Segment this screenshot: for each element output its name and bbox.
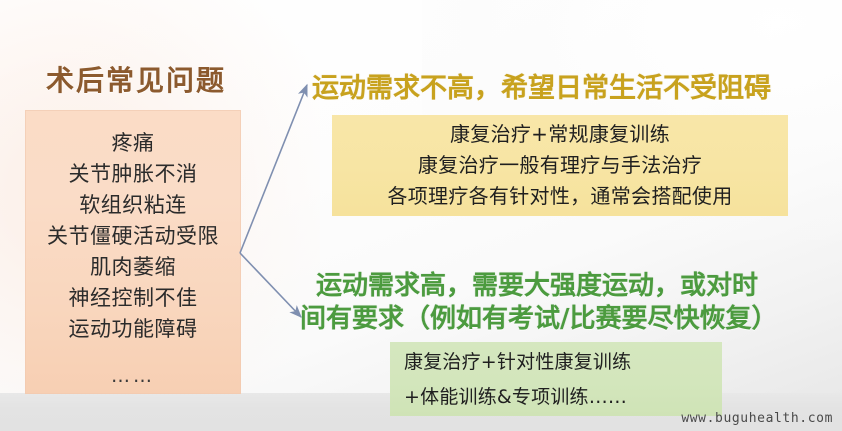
content-line: 康复治疗+常规康复训练 (332, 119, 788, 150)
list-item: 肌肉萎缩 (25, 252, 241, 283)
site-watermark: www.buguhealth.com (681, 411, 833, 426)
problem-list: 疼痛 关节肿胀不消 软组织粘连 关节僵硬活动受限 肌肉萎缩 神经控制不佳 运动功… (25, 128, 241, 392)
arrow-to-low-demand (240, 85, 307, 253)
slide-canvas: 术后常见问题 疼痛 关节肿胀不消 软组织粘连 关节僵硬活动受限 肌肉萎缩 神经控… (0, 0, 842, 431)
page-title: 术后常见问题 (46, 59, 246, 99)
list-item: 关节僵硬活动受限 (25, 221, 241, 252)
heading-line: 运动需求高，需要大强度运动，或对时 (300, 270, 830, 303)
list-item: 运动功能障碍 (25, 314, 241, 345)
list-item: 疼痛 (25, 128, 241, 159)
list-item: 关节肿胀不消 (25, 159, 241, 190)
list-item: 神经控制不佳 (25, 283, 241, 314)
high-demand-content: 康复治疗+针对性康复训练 +体能训练&专项训练…… (390, 345, 722, 415)
content-line: 各项理疗各有针对性，通常会搭配使用 (332, 181, 788, 212)
branch-heading-high-demand: 运动需求高，需要大强度运动，或对时 间有要求（例如有考试/比赛要尽快恢复） (300, 270, 830, 336)
low-demand-content: 康复治疗+常规康复训练 康复治疗一般有理疗与手法治疗 各项理疗各有针对性，通常会… (332, 119, 788, 212)
content-line: 康复治疗+针对性康复训练 (404, 345, 722, 380)
list-item: 软组织粘连 (25, 190, 241, 221)
heading-line: 间有要求（例如有考试/比赛要尽快恢复） (300, 303, 830, 336)
content-line: +体能训练&专项训练…… (404, 380, 722, 415)
branch-heading-low-demand: 运动需求不高，希望日常生活不受阻碍 (312, 66, 822, 105)
arrow-to-high-demand (240, 253, 301, 317)
content-line: 康复治疗一般有理疗与手法治疗 (332, 150, 788, 181)
list-ellipsis: …… (25, 361, 241, 392)
